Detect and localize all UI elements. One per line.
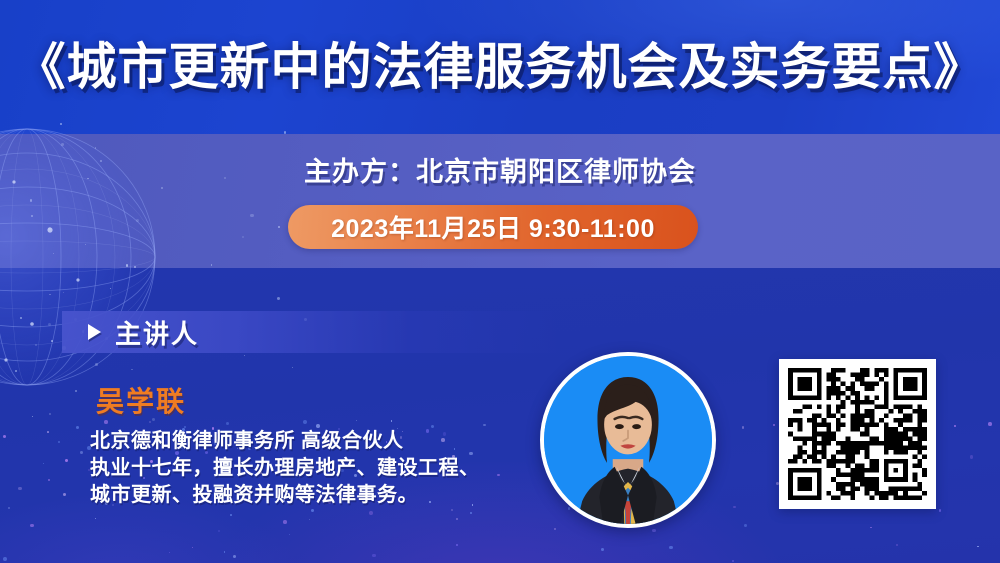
speaker-bio-line: 城市更新、投融资并购等法律事务。 [90,482,540,509]
speaker-bio-line: 执业十七年，擅长办理房地产、建设工程、 [90,455,540,482]
datetime-badge-label: 2023年11月25日 9:30-11:00 [331,209,655,245]
organizer-line: 主办方：北京市朝阳区律师协会 [0,150,1000,189]
event-poster: 《城市更新中的法律服务机会及实务要点》 主办方：北京市朝阳区律师协会 2023年… [0,0,1000,563]
qr-code[interactable] [779,359,936,509]
speaker-bio-line: 北京德和衡律师事务所 高级合伙人 [90,428,540,455]
speaker-portrait [540,352,716,528]
speaker-section-label: 主讲人 [115,314,199,351]
play-triangle-icon [88,324,101,340]
speaker-section-header: 主讲人 [62,311,557,353]
datetime-badge: 2023年11月25日 9:30-11:00 [288,205,698,249]
page-title: 《城市更新中的法律服务机会及实务要点》 [0,36,1000,98]
speaker-name: 吴学联 [96,380,186,420]
speaker-bio: 北京德和衡律师事务所 高级合伙人 执业十七年，擅长办理房地产、建设工程、 城市更… [90,428,540,509]
